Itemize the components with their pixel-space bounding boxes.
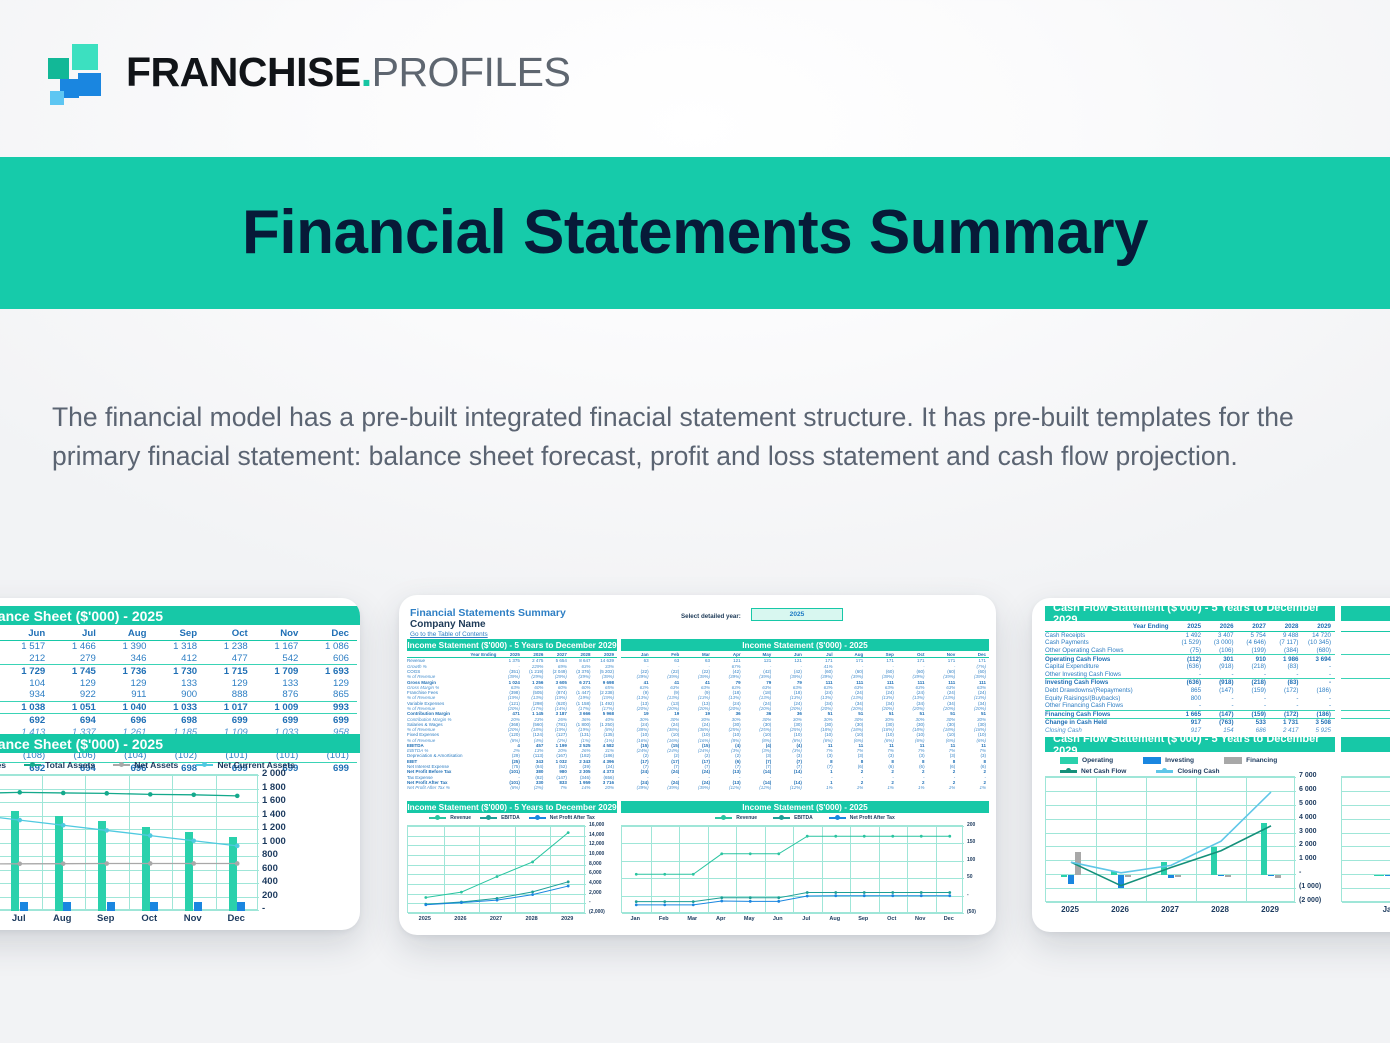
balance-sheet-chart-plot: 2 0001 8001 6001 4001 2001 0008006004002…: [0, 774, 310, 926]
table-cell: 104: [3, 677, 54, 689]
x-axis-tick-label: 2027: [478, 916, 514, 922]
legend-item: Net Assets: [113, 760, 178, 770]
table-cell: 1 038: [3, 701, 54, 714]
table-cell: (7 117): [1270, 639, 1302, 647]
table-row: Year Ending20252026202720282029: [1045, 623, 1335, 631]
income-statement-card[interactable]: Financial Statements Summary Company Nam…: [399, 595, 996, 935]
table-cell: 1 238: [205, 640, 256, 652]
y-axis-tick-label: 2 000: [262, 768, 286, 779]
row-label: Cash Payments: [1045, 639, 1173, 647]
y-axis-tick-label: -: [1299, 869, 1301, 876]
chart-lines: [1046, 777, 1296, 903]
logo-squares-icon: [48, 44, 110, 100]
table-cell: 699: [306, 762, 357, 774]
y-axis-tick-label: 600: [262, 863, 278, 874]
table-cell: 3 508: [1302, 719, 1335, 727]
table-cell: Aug: [104, 628, 155, 640]
x-axis-tick-label: Sep: [849, 916, 878, 922]
x-axis-tick-label: Aug: [821, 916, 850, 922]
cash-flow-chart-title: Cash Flow Statement ($'000) - 5 Years to…: [1045, 737, 1335, 752]
y-axis-tick-label: 3 000: [1299, 828, 1317, 835]
page-header: FRANCHISE.PROFILES: [0, 0, 1390, 155]
income-5yr-table-title: Income Statement ($'000) - 5 Years to De…: [407, 639, 617, 651]
table-cell: 1%: [836, 785, 867, 790]
table-cell: (172): [1270, 710, 1302, 719]
table-cell: 1 466: [53, 640, 104, 652]
table-cell: 2029: [1302, 623, 1335, 631]
table-cell: 1 731: [1341, 719, 1390, 727]
table-cell: (39%): [682, 785, 713, 790]
legend-label: Revenue: [450, 815, 471, 821]
table-cell: Jan: [1341, 623, 1390, 631]
x-axis-tick-label: Dec: [935, 916, 964, 922]
table-row: (7): [1341, 647, 1390, 655]
table-cell: 865: [306, 689, 357, 701]
y-axis-tick-label: 12,000: [589, 841, 604, 847]
legend-swatch-icon: [1156, 770, 1173, 773]
table-row: Equity Raisings/(Buybacks)800----: [1045, 694, 1335, 702]
table-cell: 1 318: [155, 640, 206, 652]
table-cell: 346: [104, 653, 155, 665]
table-cell: 1%: [866, 785, 897, 790]
table-cell: 1 986: [1270, 655, 1302, 663]
table-cell: 32: [1341, 631, 1390, 639]
table-cell: (199): [1238, 647, 1270, 655]
cash-flow-card[interactable]: Cash Flow Statement ($'000) - 5 Years to…: [1032, 598, 1390, 932]
table-cell: (384): [1270, 647, 1302, 655]
chart-lines: [1342, 777, 1390, 903]
table-cell: (680): [1302, 647, 1335, 655]
row-label: Other Investing Cash Flows: [1045, 671, 1173, 679]
table-cell: (36): [1341, 679, 1390, 687]
x-axis-tick-label: Oct: [878, 916, 907, 922]
table-row: Other Operating Cash Flows(75)(106)(199)…: [1045, 647, 1335, 655]
y-axis-tick-label: 1 000: [262, 836, 286, 847]
x-axis-tick-label: Dec: [215, 913, 259, 924]
plot-area: [0, 774, 258, 910]
table-cell: 865: [1173, 687, 1205, 695]
table-cell: 2027: [1238, 623, 1270, 631]
legend-label: EBITDA: [501, 815, 520, 821]
table-row: 1 731: [1341, 727, 1390, 735]
table-cell: 3 407: [1205, 631, 1237, 639]
chart-lines: [408, 826, 586, 914]
brand-name-dot: .: [361, 49, 372, 95]
table-row: Cash Payments(1 529)(3 000)(4 646)(7 117…: [1045, 639, 1335, 647]
y-axis-tick-label: (50): [967, 909, 976, 915]
table-row: 945934922911900888876865: [0, 689, 357, 701]
table-cell: 876: [256, 689, 307, 701]
table-cell: 699: [306, 714, 357, 726]
x-axis-tick-label: 2029: [549, 916, 585, 922]
table-cell: -: [1270, 694, 1302, 702]
table-cell: (186): [1302, 710, 1335, 719]
x-axis-tick-label: 2029: [1245, 905, 1295, 914]
table-cell: 900: [155, 689, 206, 701]
table-row: 989: [1341, 687, 1390, 695]
workbook-title: Financial Statements Summary: [410, 607, 566, 619]
x-axis-tick-label: Mar: [678, 916, 707, 922]
table-row: Cash Receipts1 4923 4075 7549 48814 720: [1045, 631, 1335, 639]
legend-label: Net Profit After Tax: [550, 815, 595, 821]
y-axis-tick-label: (2 000): [1299, 897, 1321, 904]
table-cell: 993: [306, 701, 357, 714]
table-cell: 1 730: [155, 665, 206, 677]
table-row: 32: [1341, 631, 1390, 639]
legend-swatch-icon: [529, 817, 546, 820]
legend-swatch-icon: [829, 817, 846, 820]
table-row: Other Investing Cash Flows-----: [1045, 671, 1335, 679]
table-row: Capital Expenditure(636)(918)(218)(83)-: [1045, 663, 1335, 671]
table-row: Investing Cash Flows(636)(918)(218)(83)-: [1045, 679, 1335, 687]
table-cell: 1%: [897, 785, 928, 790]
table-cell: -: [1341, 671, 1390, 679]
table-row: Depreciation & Amortisation(29)(113)(167…: [407, 753, 617, 758]
table-cell: (159): [1238, 687, 1270, 695]
table-cell: 212: [3, 653, 54, 665]
table-cell: 129: [104, 677, 155, 689]
table-cell: 1 492: [1173, 631, 1205, 639]
legend-item: Current Liabilities: [0, 760, 6, 770]
x-axis-tick-label: Oct: [128, 913, 172, 924]
table-cell: -: [1270, 671, 1302, 679]
x-axis-tick-label: 2028: [514, 916, 550, 922]
table-cell: 1 745: [53, 665, 104, 677]
legend-swatch-icon: [480, 817, 497, 820]
plot-area: [621, 825, 963, 913]
table-cell: 606: [306, 653, 357, 665]
table-cell: -: [1238, 694, 1270, 702]
y-axis-tick-label: 150: [967, 839, 975, 845]
table-cell: -: [1205, 702, 1237, 710]
x-axis-tick-label: 2028: [1195, 905, 1245, 914]
legend-item: Investing: [1143, 757, 1194, 764]
table-row: 1 789: [1341, 710, 1390, 719]
table-cell: Jul: [53, 628, 104, 640]
select-year-label: Select detailed year:: [681, 613, 741, 620]
table-cell: 989: [1341, 687, 1390, 695]
table-cell: (186): [1302, 687, 1335, 695]
row-label: Debt Drawdowns/(Repayments): [1045, 687, 1173, 695]
table-cell: 1 009: [256, 701, 307, 714]
legend-item: Net Cash Flow: [1060, 768, 1126, 775]
table-cell: (11%): [713, 785, 744, 790]
legend-item: Revenue: [715, 815, 757, 821]
plot-area: [1341, 776, 1390, 902]
table-cell: (4 646): [1238, 639, 1270, 647]
table-cell: (2%): [523, 785, 547, 790]
x-axis-tick-label: Jun: [764, 916, 793, 922]
table-cell: 133: [155, 677, 206, 689]
table-cell: 1%: [958, 785, 989, 790]
table-row: 1 7491 7291 7451 7361 7301 7151 7091 693: [0, 665, 357, 677]
table-cell: (83): [1270, 679, 1302, 687]
y-axis-tick-label: (2,000): [589, 909, 605, 915]
legend-item: Operating: [1060, 757, 1113, 764]
table-cell: Nov: [256, 628, 307, 640]
y-axis-tick-label: (1 000): [1299, 883, 1321, 890]
row-label: Equity Raisings/(Buybacks): [1045, 694, 1173, 702]
y-axis-tick-label: 1 200: [262, 822, 286, 833]
table-cell: (36): [1341, 663, 1390, 671]
x-axis-tick-label: 2026: [1095, 905, 1145, 914]
legend-swatch-icon: [429, 817, 446, 820]
table-cell: 129: [306, 677, 357, 689]
income-5yr-table: Year Ending20252026202720282029Revenue1 …: [407, 652, 617, 790]
y-axis-tick-label: 50: [967, 874, 973, 880]
table-cell: 1 731: [1270, 719, 1302, 727]
table-cell: -: [1302, 679, 1335, 687]
table-cell: 888: [205, 689, 256, 701]
table-row: MayJunJulAugSepOctNovDec: [0, 628, 357, 640]
table-cell: 934: [3, 689, 54, 701]
x-axis-tick-label: Jul: [792, 916, 821, 922]
legend-item: Revenue: [429, 815, 471, 821]
row-label: Other Financing Cash Flows: [1045, 702, 1173, 710]
y-axis-tick-label: 1 000: [1299, 855, 1317, 862]
plot-area: [1045, 776, 1295, 902]
row-label: Other Operating Cash Flows: [1045, 647, 1173, 655]
y-axis-tick-label: 10,000: [589, 851, 604, 857]
table-cell: (39%): [652, 785, 683, 790]
table-cell: 1 517: [3, 640, 54, 652]
cash-flow-detail-table-title-bar: [1341, 606, 1390, 621]
table-cell: 1 731: [1341, 727, 1390, 735]
table-cell: 7%: [546, 785, 570, 790]
table-row: 800: [1341, 694, 1390, 702]
legend-swatch-icon: [1060, 757, 1078, 764]
legend-swatch-icon: [1224, 757, 1242, 764]
income-5yr-chart-legend: RevenueEBITDANet Profit After Tax: [407, 815, 617, 821]
y-axis-tick-label: -: [589, 899, 591, 905]
legend-label: Net Cash Flow: [1081, 768, 1126, 775]
income-2025-chart-title: Income Statement ($'000) - 2025: [621, 801, 989, 813]
income-5yr-chart-title: Income Statement ($'000) - 5 Years to De…: [407, 801, 617, 813]
table-cell: (218): [1238, 679, 1270, 687]
row-label: Change in Cash Held: [1045, 719, 1173, 727]
plot-area: [407, 825, 585, 913]
x-axis-tick-label: Jan: [1341, 905, 1390, 914]
table-cell: 696: [104, 714, 155, 726]
table-row: Debt Drawdowns/(Repayments)865(147)(159)…: [1045, 687, 1335, 695]
cash-flow-chart-plot: 7 0006 0005 0004 0003 0002 0001 000-(1 0…: [1045, 776, 1335, 918]
chart-lines: [0, 775, 259, 911]
table-cell: 129: [205, 677, 256, 689]
legend-item: Total Assets: [24, 760, 95, 770]
y-axis-tick-label: 2 000: [1299, 841, 1317, 848]
y-axis-tick-label: 14,000: [589, 832, 604, 838]
table-cell: 477: [205, 653, 256, 665]
legend-item: Net Profit After Tax: [829, 815, 895, 821]
table-cell: (22): [1341, 655, 1390, 663]
table-cell: 133: [256, 677, 307, 689]
table-cell: 800: [1341, 694, 1390, 702]
legend-label: Net Assets: [134, 760, 178, 770]
legend-swatch-icon: [196, 764, 213, 767]
legend-swatch-icon: [773, 817, 790, 820]
table-row: 703692694696698699699699: [0, 714, 357, 726]
table-cell: -: [1173, 702, 1205, 710]
table-cell: Dec: [306, 628, 357, 640]
y-axis-tick-label: -: [262, 903, 265, 914]
table-cell: 1%: [805, 785, 836, 790]
x-axis-tick-label: 2025: [1045, 905, 1095, 914]
table-row: -: [1341, 671, 1390, 679]
table-cell: (112): [1173, 655, 1205, 663]
table-cell: -: [1173, 671, 1205, 679]
table-cell: 2025: [1173, 623, 1205, 631]
table-row: Contribution Margin %20%23%26%36%40%: [407, 716, 617, 721]
y-axis-tick-label: -: [967, 892, 969, 898]
x-axis-tick-label: Feb: [650, 916, 679, 922]
legend-swatch-icon: [1060, 770, 1077, 773]
table-row: 1 0451 0381 0511 0401 0331 0171 009993: [0, 701, 357, 714]
income-2025-chart-legend: RevenueEBITDANet Profit After Tax: [621, 815, 989, 821]
table-cell: 800: [1173, 694, 1205, 702]
table-cell: (83): [1270, 663, 1302, 671]
table-cell: (763): [1205, 719, 1237, 727]
cash-flow-table-title: Cash Flow Statement ($'000) - 5 Years to…: [1045, 606, 1335, 621]
table-cell: 1 693: [306, 665, 357, 677]
legend-item: Net Profit After Tax: [529, 815, 595, 821]
legend-label: Financing: [1246, 757, 1277, 764]
table-cell: 1 167: [256, 640, 307, 652]
table-cell: 1 017: [205, 701, 256, 714]
table-cell: 692: [3, 714, 54, 726]
table-cell: -: [1302, 663, 1335, 671]
table-cell: (8%): [499, 785, 523, 790]
y-axis-tick-label: 5 000: [1299, 800, 1317, 807]
cash-flow-chart-legend: OperatingInvestingFinancingNet Cash Flow…: [1060, 757, 1335, 775]
table-cell: (47): [1341, 639, 1390, 647]
legend-item: EBITDA: [773, 815, 813, 821]
table-row: (36): [1341, 679, 1390, 687]
brand-logo: FRANCHISE.PROFILES: [48, 44, 570, 100]
table-cell: 1 051: [53, 701, 104, 714]
y-axis-tick-label: 6 000: [1299, 786, 1317, 793]
table-row: Net Profit After Tax %(8%)(2%)7%14%20%: [407, 785, 617, 790]
table-cell: 533: [1238, 719, 1270, 727]
intro-paragraph: The financial model has a pre-built inte…: [52, 398, 1342, 476]
x-axis-tick-label: Aug: [41, 913, 85, 924]
legend-label: Current Liabilities: [0, 760, 6, 770]
table-cell: 14%: [570, 785, 594, 790]
balance-sheet-chart-title: Balance Sheet ($'000) - 2025: [0, 734, 360, 753]
table-cell: 1 789: [1341, 710, 1390, 719]
table-row: Jan: [1341, 623, 1390, 631]
y-axis-tick-label: 1 400: [262, 809, 286, 820]
table-cell: -: [1238, 671, 1270, 679]
balance-sheet-card[interactable]: Balance Sheet ($'000) - 2025 MayJunJulAu…: [0, 598, 360, 930]
table-cell: 699: [256, 714, 307, 726]
table-cell: -: [1302, 702, 1335, 710]
table-cell: (10 345): [1302, 639, 1335, 647]
title-banner: Financial Statements Summary: [0, 157, 1390, 309]
table-cell: 301: [1205, 655, 1237, 663]
table-row: -: [1341, 702, 1390, 710]
table-row: Fixed Expenses(120)(124)(127)(131)(135): [407, 732, 617, 737]
table-cell: (918): [1205, 679, 1237, 687]
table-row: 1 5711 5171 4661 3901 3181 2381 1671 086: [0, 640, 357, 652]
table-cell: Oct: [205, 628, 256, 640]
cash-flow-screenshot: Cash Flow Statement ($'000) - 5 Years to…: [1032, 598, 1390, 932]
table-cell: 2026: [1205, 623, 1237, 631]
table-cell: (7): [1341, 647, 1390, 655]
income-2025-table: JanFebMarAprMayJunJulAugSepOctNovDec6363…: [621, 652, 989, 790]
cash-flow-detail-table: Jan32(47)(7)(22)(36)-(36)989800-1 7891 7…: [1341, 623, 1390, 734]
table-cell: 542: [256, 653, 307, 665]
x-axis-tick-label: May: [735, 916, 764, 922]
legend-swatch-icon: [24, 764, 41, 767]
table-cell: -: [1238, 702, 1270, 710]
table-cell: 279: [53, 653, 104, 665]
brand-name-bold: FRANCHISE: [126, 49, 361, 95]
table-cell: 699: [205, 714, 256, 726]
y-axis-tick-label: 8,000: [589, 861, 602, 867]
row-label: Capital Expenditure: [1045, 663, 1173, 671]
select-year-input[interactable]: 2025: [751, 608, 843, 621]
table-cell: 1 729: [3, 665, 54, 677]
row-label: Financing Cash Flows: [1045, 710, 1173, 719]
table-row: 178212279346412477542606: [0, 653, 357, 665]
y-axis-tick-label: 1 600: [262, 795, 286, 806]
company-name: Company Name: [410, 619, 486, 630]
row-label: Cash Receipts: [1045, 631, 1173, 639]
row-label: Operating Cash Flows: [1045, 655, 1173, 663]
table-cell: (218): [1238, 663, 1270, 671]
cash-flow-table: Year Ending20252026202720282029Cash Rece…: [1045, 623, 1335, 734]
table-row: Operating Cash Flows(112)3019101 9863 69…: [1045, 655, 1335, 663]
cash-flow-detail-chart-plot: Jan: [1341, 776, 1390, 918]
legend-label: Total Assets: [45, 760, 95, 770]
y-axis-tick-label: 800: [262, 849, 278, 860]
table-cell: (12%): [744, 785, 775, 790]
table-cell: 1 665: [1173, 710, 1205, 719]
table-row: Other Financing Cash Flows-----: [1045, 702, 1335, 710]
row-label: Net Profit After Tax %: [407, 785, 499, 790]
table-cell: (39%): [621, 785, 652, 790]
y-axis-tick-label: 200: [262, 890, 278, 901]
table-cell: 910: [1238, 655, 1270, 663]
legend-item: EBITDA: [480, 815, 520, 821]
table-cell: (3 000): [1205, 639, 1237, 647]
table-row: (22): [1341, 655, 1390, 663]
table-row: Financing Cash Flows1 665(147)(159)(172)…: [1045, 710, 1335, 719]
table-cell: 2028: [1270, 623, 1302, 631]
y-axis-tick-label: 1 800: [262, 782, 286, 793]
brand-wordmark: FRANCHISE.PROFILES: [126, 52, 570, 93]
table-cell: (147): [1205, 710, 1237, 719]
table-cell: 1 709: [256, 665, 307, 677]
legend-label: Investing: [1165, 757, 1194, 764]
legend-label: EBITDA: [794, 815, 813, 821]
table-cell: 1 086: [306, 640, 357, 652]
table-cell: 1 715: [205, 665, 256, 677]
legend-item: Financing: [1224, 757, 1277, 764]
table-of-contents-link[interactable]: Go to the Table of Contents: [410, 631, 488, 638]
legend-label: Operating: [1082, 757, 1113, 764]
y-axis-tick-label: 400: [262, 876, 278, 887]
table-cell: 5 754: [1238, 631, 1270, 639]
table-cell: (636): [1173, 679, 1205, 687]
table-cell: -: [1270, 702, 1302, 710]
table-row: Change in Cash Held917(763)5331 7313 508: [1045, 719, 1335, 727]
table-cell: 911: [104, 689, 155, 701]
table-cell: (636): [1173, 663, 1205, 671]
table-row: (39%)(39%)(39%)(11%)(12%)(12%)1%1%1%1%1%…: [621, 785, 989, 790]
legend-label: Closing Cash: [1177, 768, 1219, 775]
y-axis-tick-label: 2,000: [589, 890, 602, 896]
